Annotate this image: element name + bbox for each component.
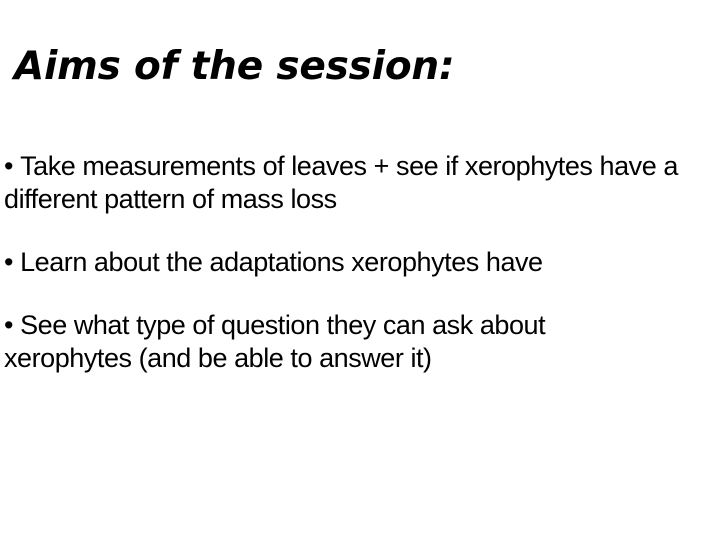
slide-title: Aims of the session: [14, 44, 704, 90]
bullet-item: • Take measurements of leaves + see if x… [4, 150, 718, 216]
bullet-text: Learn about the adaptations xerophytes h… [20, 247, 543, 277]
bullet-point-icon: • [4, 310, 13, 340]
bullet-item: • See what type of question they can ask… [4, 309, 612, 375]
bullet-point-icon: • [4, 151, 13, 181]
bullet-point-icon: • [4, 247, 13, 277]
presentation-slide: Aims of the session: • Take measurements… [0, 0, 720, 540]
slide-body: • Take measurements of leaves + see if x… [4, 150, 718, 375]
bullet-text: Take measurements of leaves + see if xer… [4, 151, 678, 214]
bullet-item: • Learn about the adaptations xerophytes… [4, 246, 644, 279]
bullet-text: See what type of question they can ask a… [4, 310, 545, 373]
